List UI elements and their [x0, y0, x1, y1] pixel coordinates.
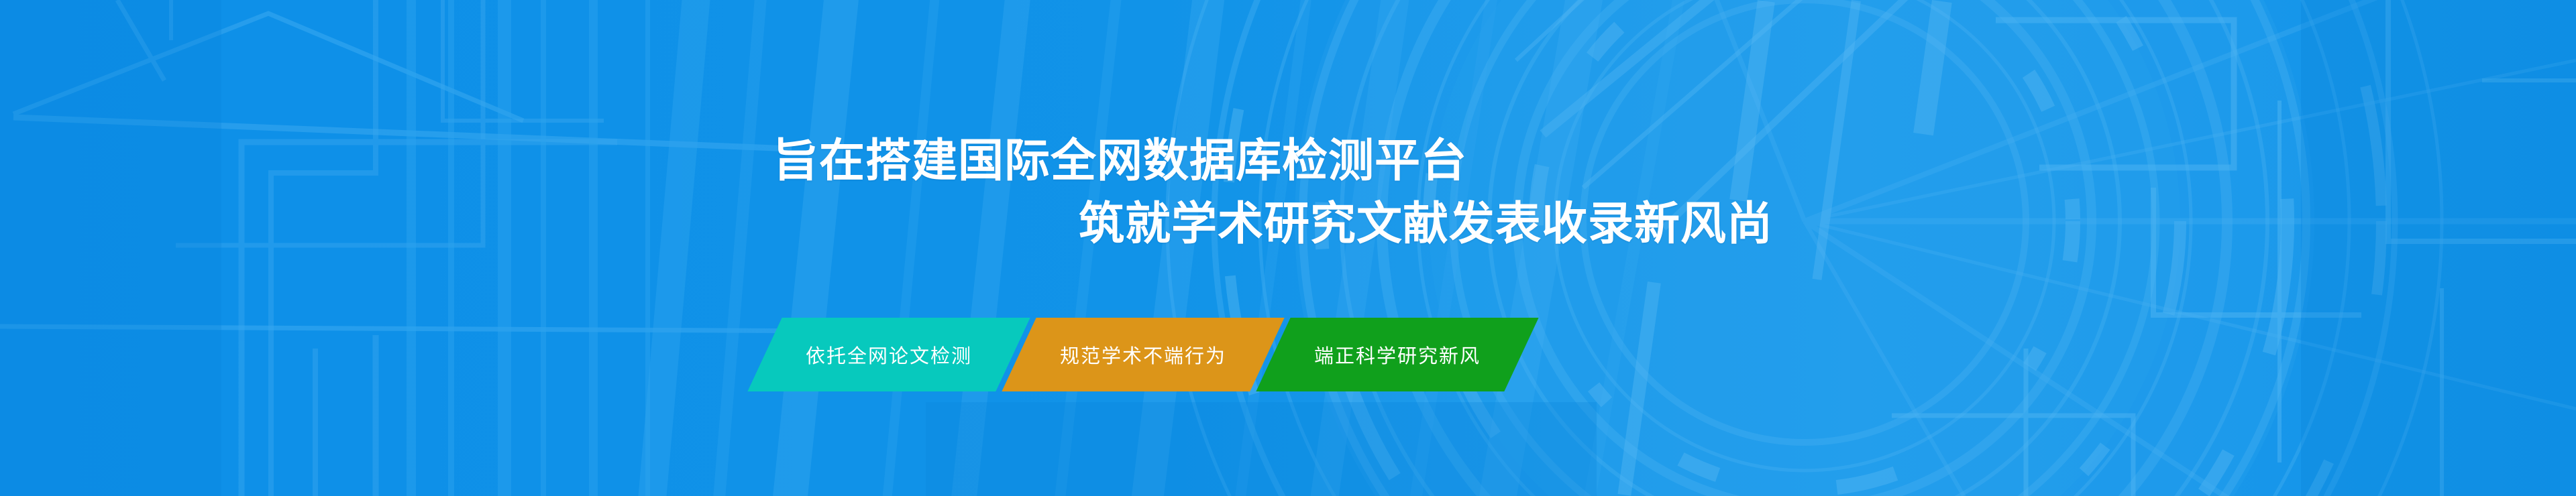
feature-badge-misconduct-label: 规范学术不端行为: [1060, 340, 1226, 369]
headline-line-1: 旨在搭建国际全网数据库检测平台: [773, 133, 1467, 189]
headline-group: 旨在搭建国际全网数据库检测平台 筑就学术研究文献发表收录新风尚: [0, 0, 2576, 496]
feature-badge-misconduct[interactable]: 规范学术不端行为: [1002, 318, 1284, 391]
promo-banner: 旨在搭建国际全网数据库检测平台 筑就学术研究文献发表收录新风尚 依托全网论文检测…: [0, 0, 2576, 496]
feature-badge-detection[interactable]: 依托全网论文检测: [747, 318, 1030, 391]
headline-line-2: 筑就学术研究文献发表收录新风尚: [1079, 196, 1773, 252]
feature-badge-detection-label: 依托全网论文检测: [806, 340, 972, 369]
feature-badge-integrity[interactable]: 端正科学研究新风: [1256, 318, 1538, 391]
feature-badge-strip: 依托全网论文检测 规范学术不端行为 端正科学研究新风: [765, 318, 1521, 391]
feature-badge-integrity-label: 端正科学研究新风: [1314, 340, 1481, 369]
background-decoration: [0, 0, 2576, 496]
